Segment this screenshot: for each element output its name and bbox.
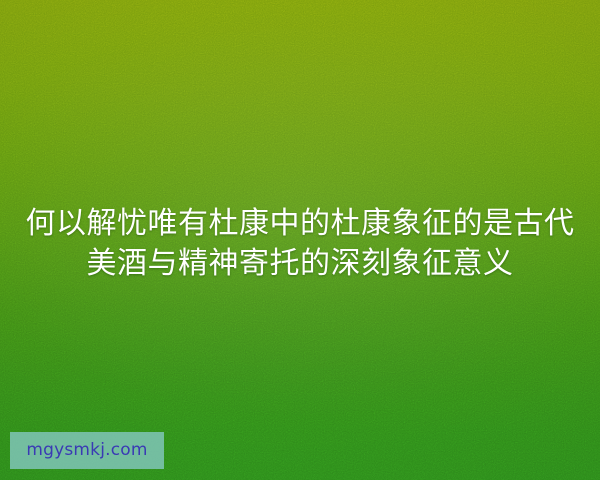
image-content: 何以解忧唯有杜康中的杜康象征的是古代 美酒与精神寄托的深刻象征意义 mgysmk… <box>0 0 600 480</box>
watermark-label: mgysmkj.com <box>26 442 147 459</box>
headline-text: 何以解忧唯有杜康中的杜康象征的是古代 美酒与精神寄托的深刻象征意义 <box>0 204 600 284</box>
headline-line-1: 何以解忧唯有杜康中的杜康象征的是古代 <box>0 204 600 244</box>
image-banner: 何以解忧唯有杜康中的杜康象征的是古代 美酒与精神寄托的深刻象征意义 mgysmk… <box>0 0 600 480</box>
watermark-badge: mgysmkj.com <box>10 432 164 469</box>
headline-line-2: 美酒与精神寄托的深刻象征意义 <box>0 244 600 284</box>
